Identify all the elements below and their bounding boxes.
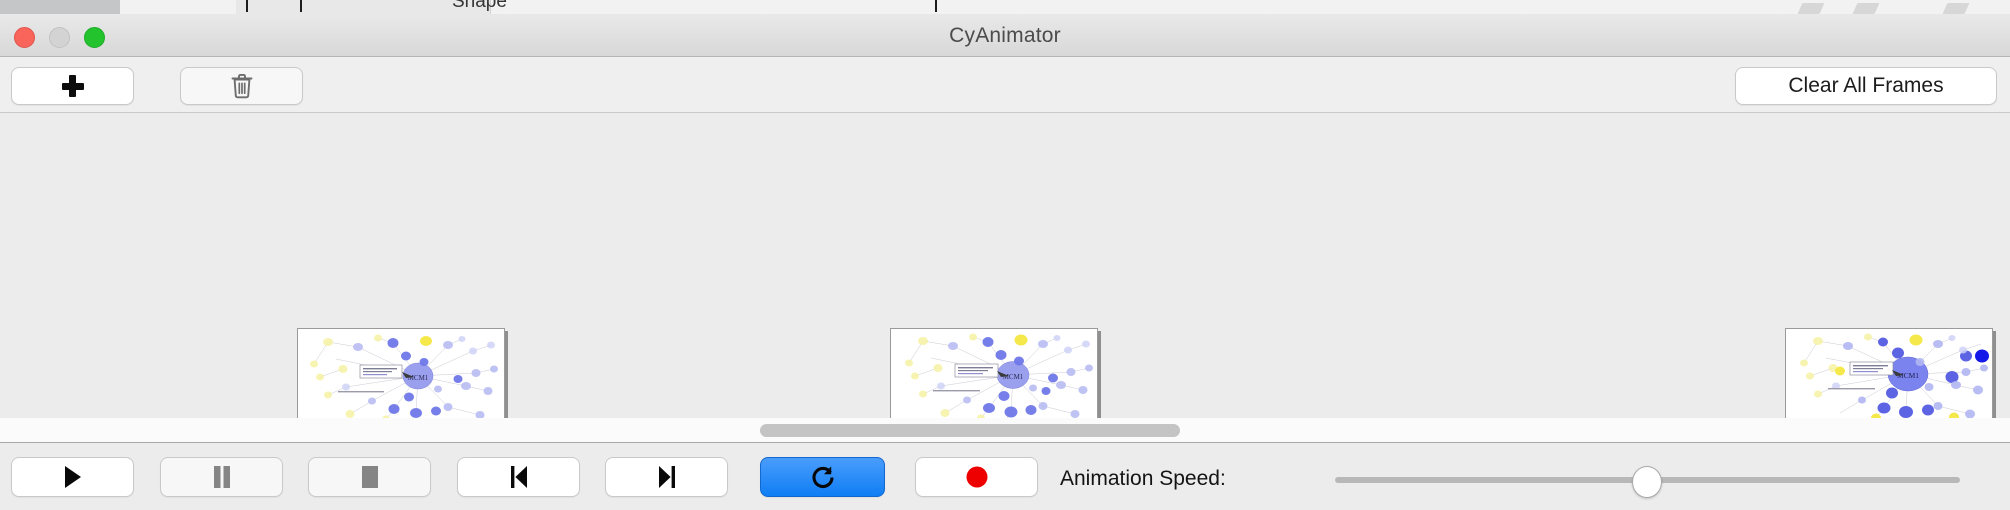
frame-thumbnail[interactable]: MCM1	[297, 328, 505, 421]
svg-text:MCM1: MCM1	[1897, 371, 1919, 380]
previous-frame-button[interactable]	[457, 457, 580, 497]
loop-button[interactable]	[760, 457, 885, 497]
title-bar: CyAnimator	[0, 14, 2010, 57]
network-thumbnail-graphic: MCM1	[298, 329, 504, 421]
animation-speed-slider-thumb[interactable]	[1632, 466, 1662, 498]
background-window-strip: Shape	[0, 0, 2010, 14]
frame-thumbnail[interactable]: MCM1	[1785, 328, 1993, 421]
skip-back-icon	[507, 465, 531, 489]
svg-text:MCM1: MCM1	[408, 374, 429, 382]
record-button[interactable]	[915, 457, 1038, 497]
background-shape-label: Shape	[452, 0, 507, 13]
background-tick	[935, 0, 937, 12]
scrollbar-thumb[interactable]	[760, 424, 1180, 437]
timeline-panel[interactable]: MCM1	[0, 113, 2010, 421]
background-toolbar-segment	[236, 0, 327, 14]
background-toolbar-segment	[326, 0, 405, 14]
delete-frame-button[interactable]	[180, 67, 303, 105]
window-title: CyAnimator	[0, 14, 2010, 57]
add-frame-button[interactable]	[11, 67, 134, 105]
skip-forward-icon	[655, 465, 679, 489]
network-thumbnail-graphic: MCM1	[1786, 329, 1992, 421]
network-thumbnail-graphic: MCM1	[891, 329, 1097, 421]
svg-text:MCM1: MCM1	[1003, 373, 1024, 381]
frame-thumbnail[interactable]: MCM1	[890, 328, 1098, 421]
record-icon	[965, 465, 989, 489]
play-button[interactable]	[11, 457, 134, 497]
clear-all-frames-button[interactable]: Clear All Frames	[1735, 67, 1997, 105]
trash-icon	[230, 73, 254, 99]
background-right-widget	[1853, 3, 1880, 14]
next-frame-button[interactable]	[605, 457, 728, 497]
pause-button[interactable]	[160, 457, 283, 497]
loop-icon	[810, 464, 836, 490]
toolbar: Clear All Frames	[0, 57, 2010, 113]
background-tick	[246, 0, 248, 12]
background-strip-dark-segment	[0, 0, 120, 14]
plus-icon	[62, 75, 84, 97]
timeline-horizontal-scrollbar[interactable]	[0, 418, 2010, 443]
background-tick	[300, 0, 302, 12]
play-icon	[62, 465, 84, 489]
background-right-widget	[1943, 3, 1970, 14]
stop-icon	[359, 465, 381, 489]
animation-speed-label: Animation Speed:	[1060, 467, 1226, 491]
cyanimator-window: Shape CyAnimator Clear All Frames	[0, 0, 2010, 510]
background-right-widget	[1798, 3, 1825, 14]
clear-all-frames-label: Clear All Frames	[1788, 74, 1943, 98]
pause-icon	[211, 465, 233, 489]
stop-button[interactable]	[308, 457, 431, 497]
